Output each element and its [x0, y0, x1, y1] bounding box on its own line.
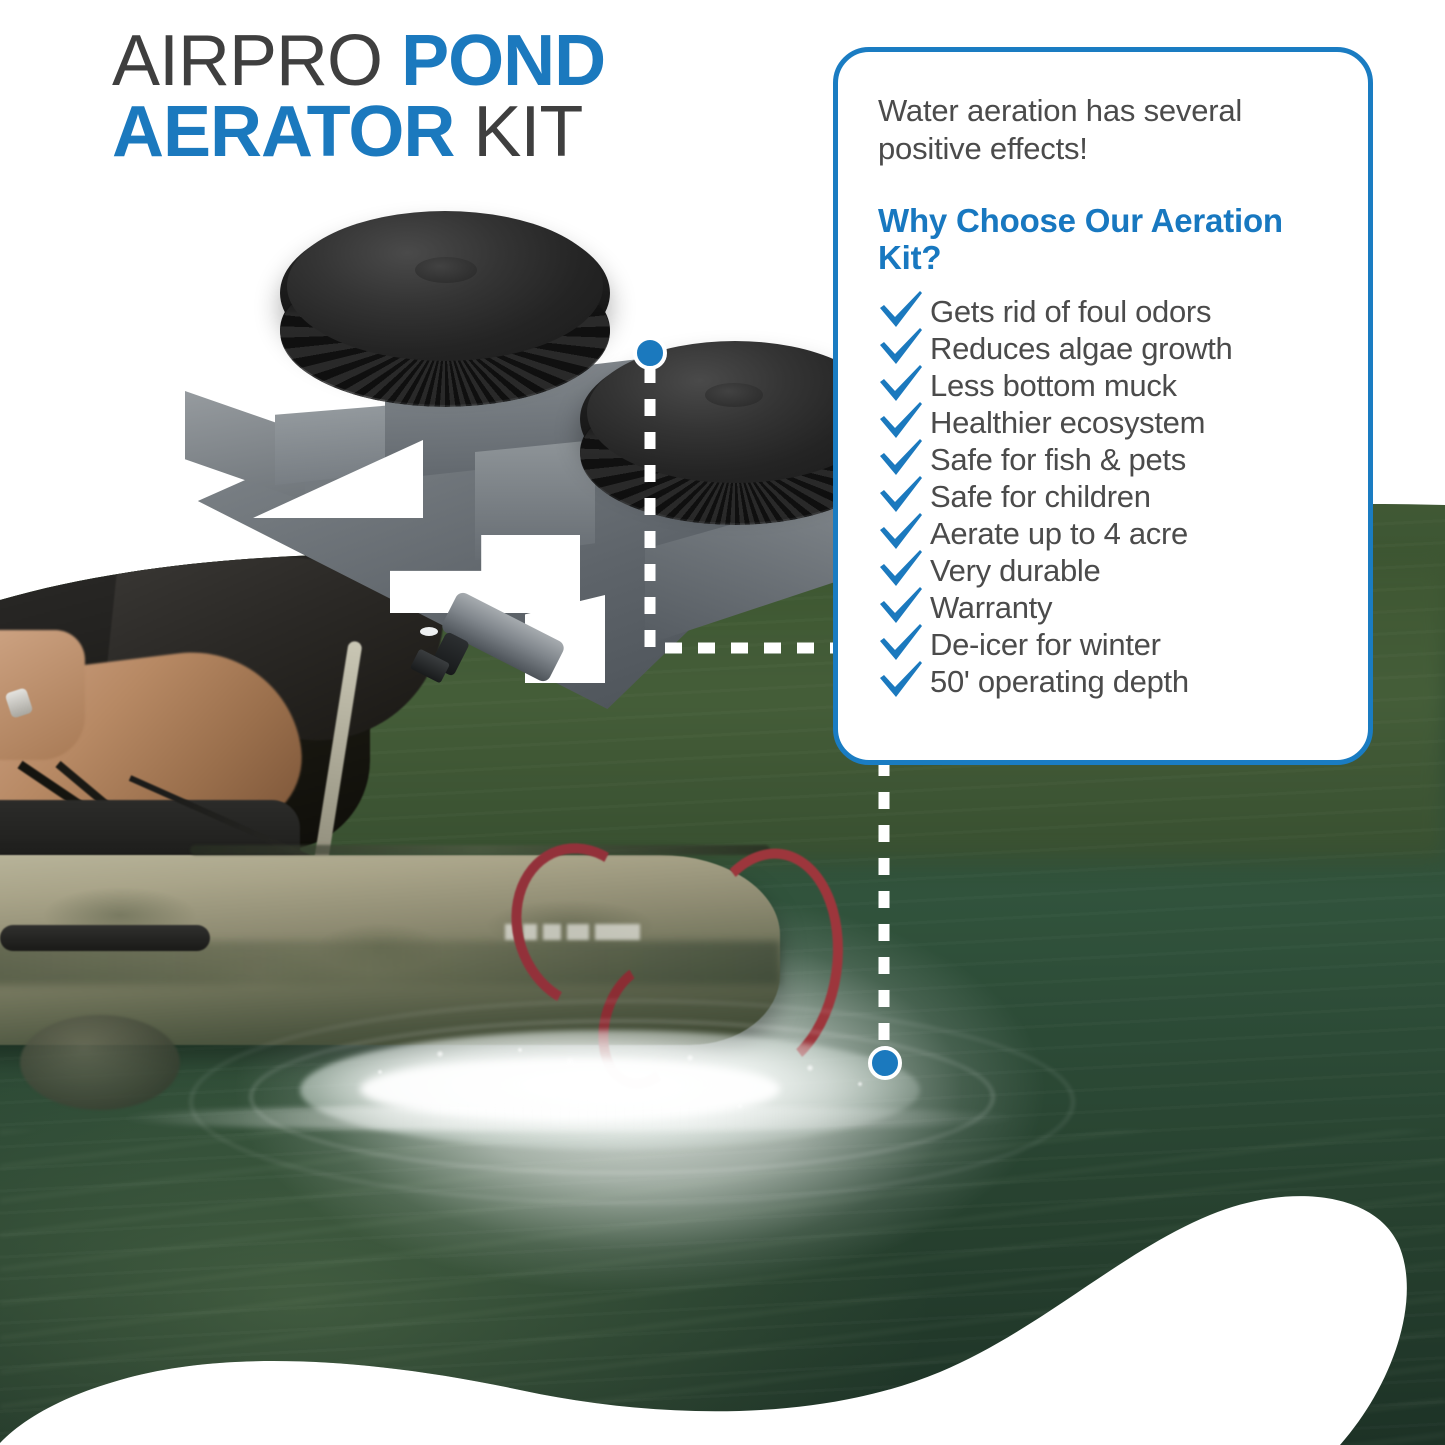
benefits-list: Gets rid of foul odorsReduces algae grow…	[878, 293, 1342, 700]
title-aerator: AERATOR	[112, 92, 473, 172]
checkmark-icon	[878, 330, 924, 367]
checkmark-icon	[878, 293, 924, 330]
base-plate-hole	[243, 385, 273, 409]
benefit-label: Gets rid of foul odors	[930, 296, 1211, 327]
aerator-product-image	[175, 195, 845, 690]
callout-dot-marker-product	[633, 336, 667, 370]
benefits-heading: Why Choose Our Aeration Kit?	[878, 202, 1342, 277]
checkmark-icon	[878, 515, 924, 552]
benefit-item: Gets rid of foul odors	[878, 293, 1342, 330]
intro-text: Water aeration has several positive effe…	[878, 92, 1342, 168]
title-pond: POND	[401, 21, 605, 101]
callout-dot-marker-water	[868, 1046, 902, 1080]
benefit-item: Safe for fish & pets	[878, 441, 1342, 478]
benefit-label: Warranty	[930, 592, 1052, 623]
title-airpro: AIRPRO	[112, 21, 401, 101]
benefit-label: De-icer for winter	[930, 629, 1161, 660]
benefit-item: Reduces algae growth	[878, 330, 1342, 367]
diffuser-disc-top	[287, 211, 603, 361]
checkmark-icon	[878, 478, 924, 515]
water-wake	[120, 1105, 1020, 1131]
benefit-item: De-icer for winter	[878, 626, 1342, 663]
diffuser-disc-nub	[415, 257, 477, 283]
checkmark-icon	[878, 367, 924, 404]
diffuser-disc-nub	[705, 383, 763, 407]
checkmark-icon	[878, 626, 924, 663]
benefit-item: Aerate up to 4 acre	[878, 515, 1342, 552]
base-plate-hole	[420, 627, 438, 636]
kayak-handle	[0, 925, 210, 951]
checkmark-icon	[878, 441, 924, 478]
benefit-label: Aerate up to 4 acre	[930, 518, 1188, 549]
title-line-1: AIRPRO POND	[112, 26, 812, 97]
title-line-2: AERATOR KIT	[112, 97, 812, 168]
benefit-item: Safe for children	[878, 478, 1342, 515]
benefit-item: Warranty	[878, 589, 1342, 626]
kayak-hatch	[20, 1015, 180, 1110]
benefit-label: Reduces algae growth	[930, 333, 1232, 364]
benefit-item: Healthier ecosystem	[878, 404, 1342, 441]
benefit-label: Safe for children	[930, 481, 1151, 512]
kayak-rail	[190, 845, 770, 855]
title-kit: KIT	[473, 92, 582, 172]
checkmark-icon	[878, 663, 924, 700]
benefit-label: 50' operating depth	[930, 666, 1189, 697]
benefit-item: 50' operating depth	[878, 663, 1342, 700]
checkmark-icon	[878, 589, 924, 626]
checkmark-icon	[878, 552, 924, 589]
benefit-label: Very durable	[930, 555, 1100, 586]
checkmark-icon	[878, 404, 924, 441]
product-infographic: AIRPRO POND AERATOR KIT Water aeration h…	[0, 0, 1445, 1445]
benefit-label: Less bottom muck	[930, 370, 1177, 401]
benefits-callout-box: Water aeration has several positive effe…	[833, 47, 1373, 765]
benefit-item: Very durable	[878, 552, 1342, 589]
benefit-label: Safe for fish & pets	[930, 444, 1186, 475]
benefit-item: Less bottom muck	[878, 367, 1342, 404]
page-title: AIRPRO POND AERATOR KIT	[112, 26, 812, 169]
benefit-label: Healthier ecosystem	[930, 407, 1205, 438]
